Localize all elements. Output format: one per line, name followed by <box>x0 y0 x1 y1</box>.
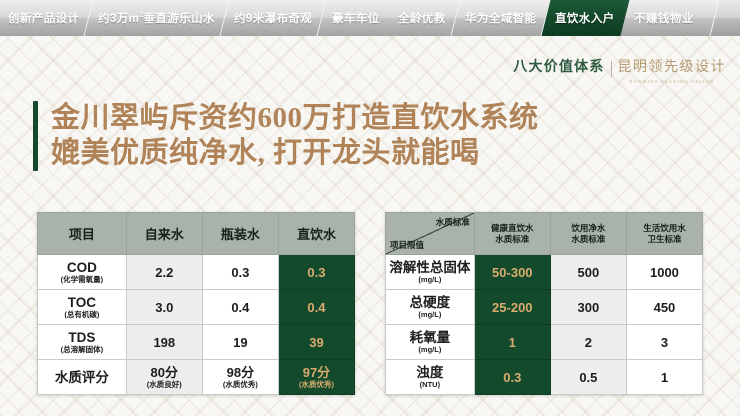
nav-tab-3[interactable]: 豪车车位 <box>318 0 394 36</box>
row-label-main: TDS <box>38 330 126 345</box>
nav-tab-label: 约9米瀑布奇观 <box>234 10 312 26</box>
nav-tab-7[interactable]: 不赚钱物业 <box>620 0 718 36</box>
water-comparison-table: 项目 自来水 瓶装水 直饮水 COD (化学需氧量) 2.2 0.3 0.3 T… <box>37 212 355 395</box>
cell-value: 0.5 <box>551 370 626 385</box>
cell-cod-bottled: 0.3 <box>202 255 278 290</box>
brand-title-cn: 八大价值体系 <box>513 58 604 78</box>
cell-value: 2 <box>551 335 626 350</box>
col-header-line1: 生活饮用水 <box>643 223 686 233</box>
table-row: 溶解性总固体 (mg/L) 50-300 500 1000 <box>386 255 703 290</box>
row-label-sub: (总溶解固体) <box>38 345 126 355</box>
table-right: 水质标准 项目限值 健康直饮水 水质标准 饮用净水 水质标准 生活饮用水 卫生标… <box>385 212 703 395</box>
cell-value: 0.3 <box>203 265 278 280</box>
nav-tab-label: 约3万m2垂直游乐山水 <box>98 10 215 26</box>
cell-hardness-domestic: 450 <box>626 290 702 325</box>
cell-value: 450 <box>627 300 702 315</box>
row-label-unit: (mg/L) <box>386 310 474 320</box>
table-row: 总硬度 (mg/L) 25-200 300 450 <box>386 290 703 325</box>
row-label-hardness: 总硬度 (mg/L) <box>386 290 475 325</box>
row-label-unit: (mg/L) <box>386 275 474 285</box>
row-label-tds: TDS (总溶解固体) <box>38 325 127 360</box>
col-header-line2: 卫生标准 <box>647 234 681 244</box>
table-row: 耗氧量 (mg/L) 1 2 3 <box>386 325 703 360</box>
cell-toc-tap: 3.0 <box>126 290 202 325</box>
cell-tds-direct: 39 <box>278 325 354 360</box>
row-label-toc: TOC (总有机碳) <box>38 290 127 325</box>
row-label-sub: (总有机碳) <box>38 310 126 320</box>
row-label-main: COD <box>38 260 126 275</box>
nav-tab-6-active[interactable]: 直饮水入户 <box>542 0 629 36</box>
headline-line-1: 金川翠屿斥资约600万打造直饮水系统 <box>51 101 539 136</box>
table-row: 浊度 (NTU) 0.3 0.5 1 <box>386 360 703 395</box>
cell-value: 25-200 <box>475 300 550 315</box>
col-header-direct-drink-water: 直饮水 <box>278 213 354 255</box>
table-row: TOC (总有机碳) 3.0 0.4 0.4 <box>38 290 355 325</box>
col-header-line1: 饮用净水 <box>571 223 605 233</box>
table-left: 项目 自来水 瓶装水 直饮水 COD (化学需氧量) 2.2 0.3 0.3 T… <box>37 212 355 395</box>
row-label-main: TOC <box>38 295 126 310</box>
cell-value: 98分 <box>203 365 278 380</box>
brand-subtitle-cn: 昆明领先级设计 <box>618 58 727 78</box>
corner-header-top-label: 水质标准 <box>436 216 470 228</box>
col-header-item: 项目 <box>38 213 127 255</box>
cell-solids-domestic: 1000 <box>626 255 702 290</box>
cell-score-tap: 80分 (水质良好) <box>126 360 202 395</box>
col-header-line2: 水质标准 <box>571 234 605 244</box>
headline-block: 金川翠屿斥资约600万打造直饮水系统 媲美优质纯净水, 打开龙头就能喝 <box>33 101 539 171</box>
brand-subtitle-en: KUNMING LEADING DESIGN <box>618 79 727 84</box>
cell-tds-tap: 198 <box>126 325 202 360</box>
cell-value: 0.4 <box>203 300 278 315</box>
col-header-purified-drinking: 饮用净水 水质标准 <box>550 213 626 255</box>
row-label-main: 溶解性总固体 <box>386 260 474 275</box>
row-label-sub: (化学需氧量) <box>38 275 126 285</box>
nav-tab-0[interactable]: 创新产品设计 <box>0 0 94 36</box>
cell-value: 0.3 <box>279 265 354 280</box>
cell-value: 3.0 <box>127 300 202 315</box>
row-label-main: 水质评分 <box>38 370 126 385</box>
table-row: TDS (总溶解固体) 198 19 39 <box>38 325 355 360</box>
cell-value: 2.2 <box>127 265 202 280</box>
table-header-row: 项目 自来水 瓶装水 直饮水 <box>38 213 355 255</box>
water-standards-table: 水质标准 项目限值 健康直饮水 水质标准 饮用净水 水质标准 生活饮用水 卫生标… <box>385 212 703 395</box>
cell-note: (水质优秀) <box>279 380 354 390</box>
row-label-main: 总硬度 <box>386 295 474 310</box>
row-label-unit: (mg/L) <box>386 345 474 355</box>
cell-solids-healthy: 50-300 <box>474 255 550 290</box>
nav-tab-1[interactable]: 约3万m2垂直游乐山水 <box>85 0 230 36</box>
brand-divider <box>611 61 612 77</box>
cell-toc-bottled: 0.4 <box>202 290 278 325</box>
cell-value: 3 <box>627 335 702 350</box>
row-label-main: 耗氧量 <box>386 330 474 345</box>
cell-value: 1000 <box>627 265 702 280</box>
cell-value: 0.3 <box>475 370 550 385</box>
cell-tds-bottled: 19 <box>202 325 278 360</box>
cell-cod-direct: 0.3 <box>278 255 354 290</box>
nav-tab-2[interactable]: 约9米瀑布奇观 <box>221 0 327 36</box>
nav-tab-label: 全龄优教 <box>398 10 446 26</box>
table-header-row: 水质标准 项目限值 健康直饮水 水质标准 饮用净水 水质标准 生活饮用水 卫生标… <box>386 213 703 255</box>
row-label-unit: (NTU) <box>386 380 474 390</box>
cell-turbidity-domestic: 1 <box>626 360 702 395</box>
cell-cod-tap: 2.2 <box>126 255 202 290</box>
nav-tab-label: 直饮水入户 <box>555 10 615 26</box>
cell-value: 80分 <box>127 365 202 380</box>
cell-value: 1 <box>627 370 702 385</box>
row-label-cod: COD (化学需氧量) <box>38 255 127 290</box>
col-header-tap-water: 自来水 <box>126 213 202 255</box>
cell-oxygen-purified: 2 <box>550 325 626 360</box>
table-row: 水质评分 80分 (水质良好) 98分 (水质优秀) 97分 (水质优秀) <box>38 360 355 395</box>
col-header-line1: 健康直饮水 <box>491 223 534 233</box>
cell-toc-direct: 0.4 <box>278 290 354 325</box>
col-header-line2: 水质标准 <box>495 234 529 244</box>
cell-hardness-healthy: 25-200 <box>474 290 550 325</box>
cell-value: 50-300 <box>475 265 550 280</box>
cell-value: 500 <box>551 265 626 280</box>
col-header-domestic-drinking: 生活饮用水 卫生标准 <box>626 213 702 255</box>
cell-value: 198 <box>127 335 202 350</box>
row-label-tds-solids: 溶解性总固体 (mg/L) <box>386 255 475 290</box>
row-label-score: 水质评分 <box>38 360 127 395</box>
nav-tab-4[interactable]: 全龄优教 <box>385 0 461 36</box>
cell-value: 300 <box>551 300 626 315</box>
cell-oxygen-healthy: 1 <box>474 325 550 360</box>
col-header-bottled-water: 瓶装水 <box>202 213 278 255</box>
headline-line-2: 媲美优质纯净水, 打开龙头就能喝 <box>51 136 539 171</box>
nav-tab-label: 不赚钱物业 <box>634 10 694 26</box>
headline-accent-bar <box>33 101 38 171</box>
cell-value: 39 <box>279 335 354 350</box>
brand-lockup: 八大价值体系 昆明领先级设计 KUNMING LEADING DESIGN <box>513 58 726 84</box>
nav-tab-5[interactable]: 华为全域智能 <box>451 0 550 36</box>
row-label-main: 浊度 <box>386 365 474 380</box>
cell-value: 1 <box>475 335 550 350</box>
row-label-turbidity: 浊度 (NTU) <box>386 360 475 395</box>
cell-value: 97分 <box>279 365 354 380</box>
col-header-healthy-direct-drink: 健康直饮水 水质标准 <box>474 213 550 255</box>
nav-tab-label: 华为全域智能 <box>465 10 536 26</box>
cell-turbidity-healthy: 0.3 <box>474 360 550 395</box>
cell-oxygen-domestic: 3 <box>626 325 702 360</box>
cell-turbidity-purified: 0.5 <box>550 360 626 395</box>
row-label-oxygen-consumption: 耗氧量 (mg/L) <box>386 325 475 360</box>
headline-text: 金川翠屿斥资约600万打造直饮水系统 媲美优质纯净水, 打开龙头就能喝 <box>51 101 539 171</box>
cell-value: 19 <box>203 335 278 350</box>
table-row: COD (化学需氧量) 2.2 0.3 0.3 <box>38 255 355 290</box>
cell-note: (水质良好) <box>127 380 202 390</box>
cell-hardness-purified: 300 <box>550 290 626 325</box>
cell-note: (水质优秀) <box>203 380 278 390</box>
cell-score-bottled: 98分 (水质优秀) <box>202 360 278 395</box>
brand-sub-group: 昆明领先级设计 KUNMING LEADING DESIGN <box>618 58 727 84</box>
cell-value: 0.4 <box>279 300 354 315</box>
corner-header-bottom-label: 项目限值 <box>390 239 424 251</box>
nav-tab-label: 创新产品设计 <box>8 10 79 26</box>
nav-tab-label: 豪车车位 <box>332 10 380 26</box>
cell-score-direct: 97分 (水质优秀) <box>278 360 354 395</box>
top-navigation-bar: 创新产品设计 约3万m2垂直游乐山水 约9米瀑布奇观 豪车车位 全龄优教 华为全… <box>0 0 740 36</box>
corner-header-diagonal: 水质标准 项目限值 <box>386 213 475 255</box>
cell-solids-purified: 500 <box>550 255 626 290</box>
